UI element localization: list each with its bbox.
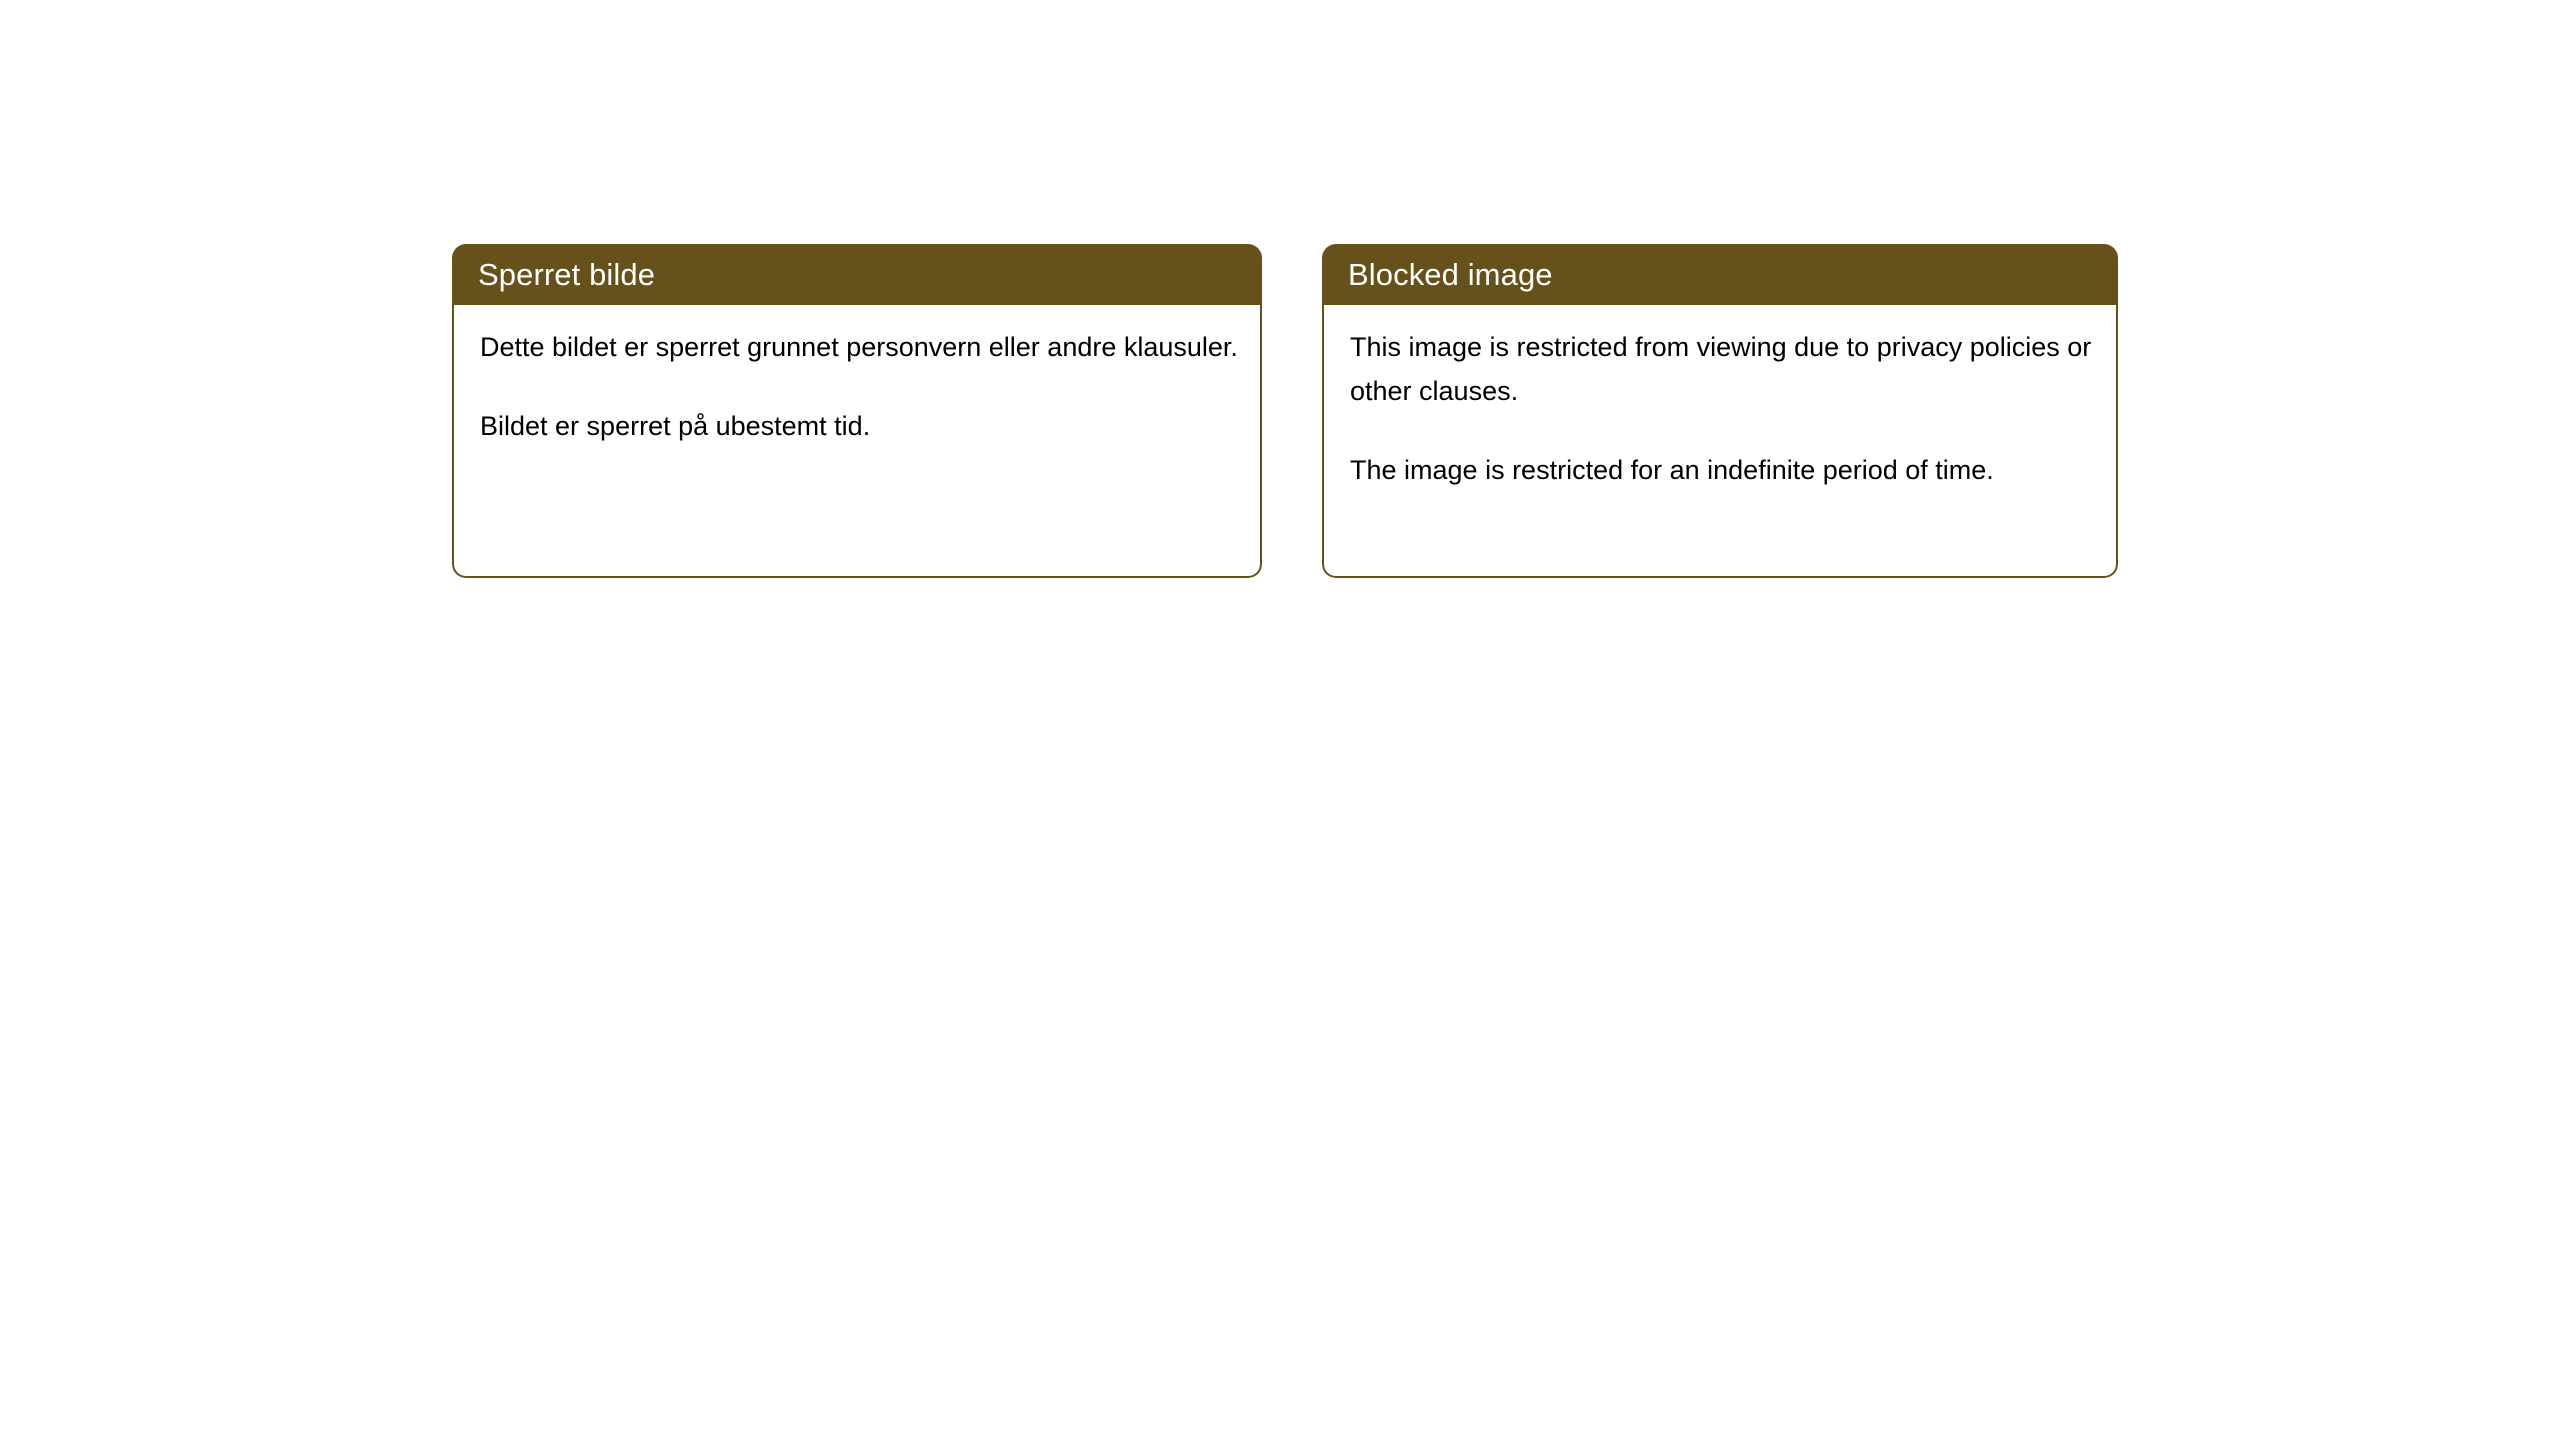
card-title-english: Blocked image [1348, 259, 1553, 290]
blocked-image-card-norwegian: Sperret bilde Dette bildet er sperret gr… [452, 244, 1262, 578]
card-header-norwegian: Sperret bilde [452, 244, 1262, 305]
card-paragraph-english-2: The image is restricted for an indefinit… [1350, 448, 2098, 492]
blocked-image-card-english: Blocked image This image is restricted f… [1322, 244, 2118, 578]
card-title-norwegian: Sperret bilde [478, 259, 655, 290]
card-paragraph-english-1: This image is restricted from viewing du… [1350, 325, 2098, 413]
blocked-image-notice-area: Sperret bilde Dette bildet er sperret gr… [0, 0, 2560, 1440]
card-body-norwegian: Dette bildet er sperret grunnet personve… [452, 305, 1262, 578]
card-header-english: Blocked image [1322, 244, 2118, 305]
card-paragraph-norwegian-1: Dette bildet er sperret grunnet personve… [480, 325, 1242, 369]
card-paragraph-norwegian-2: Bildet er sperret på ubestemt tid. [480, 404, 1242, 448]
card-body-english: This image is restricted from viewing du… [1322, 305, 2118, 578]
